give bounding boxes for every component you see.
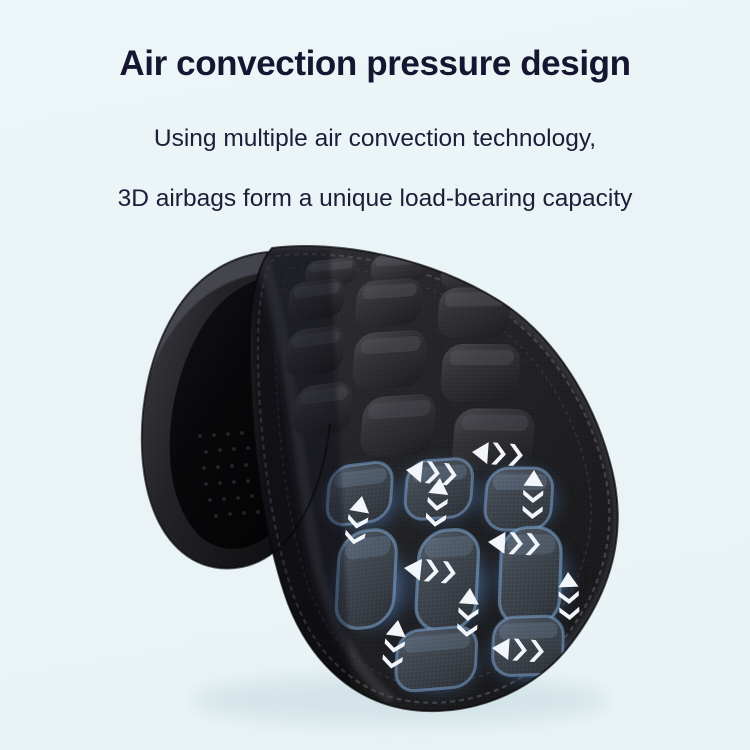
product-feature-page: Air convection pressure design Using mul… (0, 0, 750, 750)
product-illustration (0, 0, 750, 750)
product-image (0, 0, 750, 750)
brace-main-body (246, 246, 619, 711)
pad-row-5-glow (326, 457, 554, 530)
airbag-pad-grid (250, 250, 578, 708)
